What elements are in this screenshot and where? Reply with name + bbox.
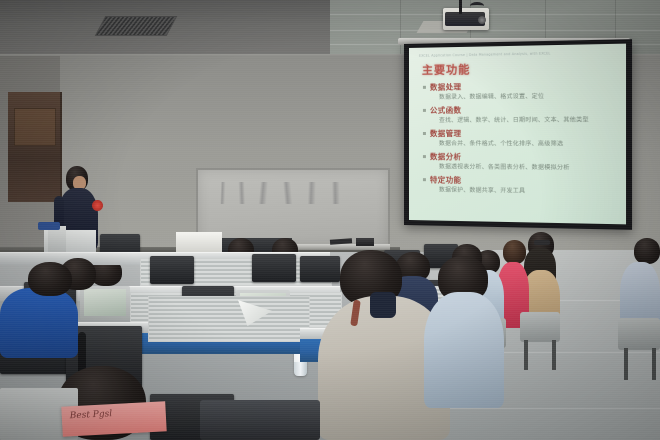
slide-group-heading: 数据分析 [423, 151, 622, 163]
projector-cable [459, 0, 462, 14]
attendee-blue-jacket [0, 288, 78, 358]
chair-back [618, 318, 660, 350]
slide-group: 公式函数 查找、逻辑、数学、统计、日期时间、文本、其他类型 [423, 104, 622, 126]
whiteboard-eraser [356, 238, 374, 246]
chair-leg [552, 340, 556, 370]
ceiling-vent-icon [95, 16, 178, 36]
monitor [80, 286, 130, 320]
slide-group: 数据管理 数据合并、条件格式、个性化排序、高级筛选 [423, 128, 622, 150]
floor-seam [430, 408, 660, 409]
whiteboard-writing [218, 182, 368, 204]
slide-group: 数据处理 数据录入、数据编辑、格式设置、定位 [423, 79, 622, 103]
presenter-badge [92, 200, 103, 211]
pink-name-card: Best Pgsl [61, 401, 166, 436]
slide-group-detail: 数据录入、数据编辑、格式设置、定位 [423, 91, 622, 103]
slide-group-heading: 特定功能 [423, 174, 622, 187]
desk-partition [148, 296, 310, 342]
keyboard [200, 400, 320, 440]
slide-title: 主要功能 [422, 61, 470, 78]
slide-body: 数据处理 数据录入、数据编辑、格式设置、定位 公式函数 查找、逻辑、数学、统计、… [423, 79, 622, 200]
attendee-head [28, 262, 72, 296]
slide-group-detail: 数据合并、条件格式、个性化排序、高级筛选 [423, 139, 622, 150]
chair-back [520, 312, 560, 342]
ceiling-tile-line [400, 0, 401, 56]
projector-cable [470, 2, 484, 10]
attendee-head [503, 240, 526, 264]
slide-group-detail: 数据透视表分析、各类图表分析、数据模拟分析 [423, 162, 622, 174]
chair-leg [624, 348, 628, 380]
slide-group-heading: 公式函数 [423, 104, 622, 116]
slide-group-detail: 查找、逻辑、数学、统计、日期时间、文本、其他类型 [423, 115, 622, 126]
slide-header-text: EXCEL Application Course | Data Manageme… [419, 50, 620, 61]
book-stack [38, 222, 60, 230]
chair-leg [524, 340, 528, 370]
monitor-screen [84, 289, 126, 316]
door-panel [14, 108, 56, 146]
slide-group: 数据分析 数据透视表分析、各类图表分析、数据模拟分析 [423, 151, 622, 174]
monitor [300, 256, 340, 282]
attendee-lightblue-body [424, 292, 504, 408]
pink-card-text: Best Pgsl [70, 409, 113, 421]
projector-lens-icon [478, 16, 486, 24]
classroom-lecture-photo: EXCEL Application Course | Data Manageme… [0, 0, 660, 440]
ceiling-tile-line [330, 30, 660, 31]
projection-screen: EXCEL Application Course | Data Manageme… [409, 44, 626, 225]
chair-leg [652, 348, 656, 380]
slide-group-heading: 数据管理 [423, 128, 622, 140]
monitor [150, 256, 194, 284]
attendee-head [634, 238, 660, 264]
ceiling-tile-line [330, 14, 660, 15]
slide-group-heading: 数据处理 [423, 79, 622, 92]
paper-sheet [176, 232, 222, 254]
attendee-collar [370, 292, 396, 318]
slide-group: 特定功能 数据保护、数据共享、开发工具 [423, 174, 622, 198]
glasses-icon [534, 240, 550, 245]
monitor [252, 254, 296, 282]
